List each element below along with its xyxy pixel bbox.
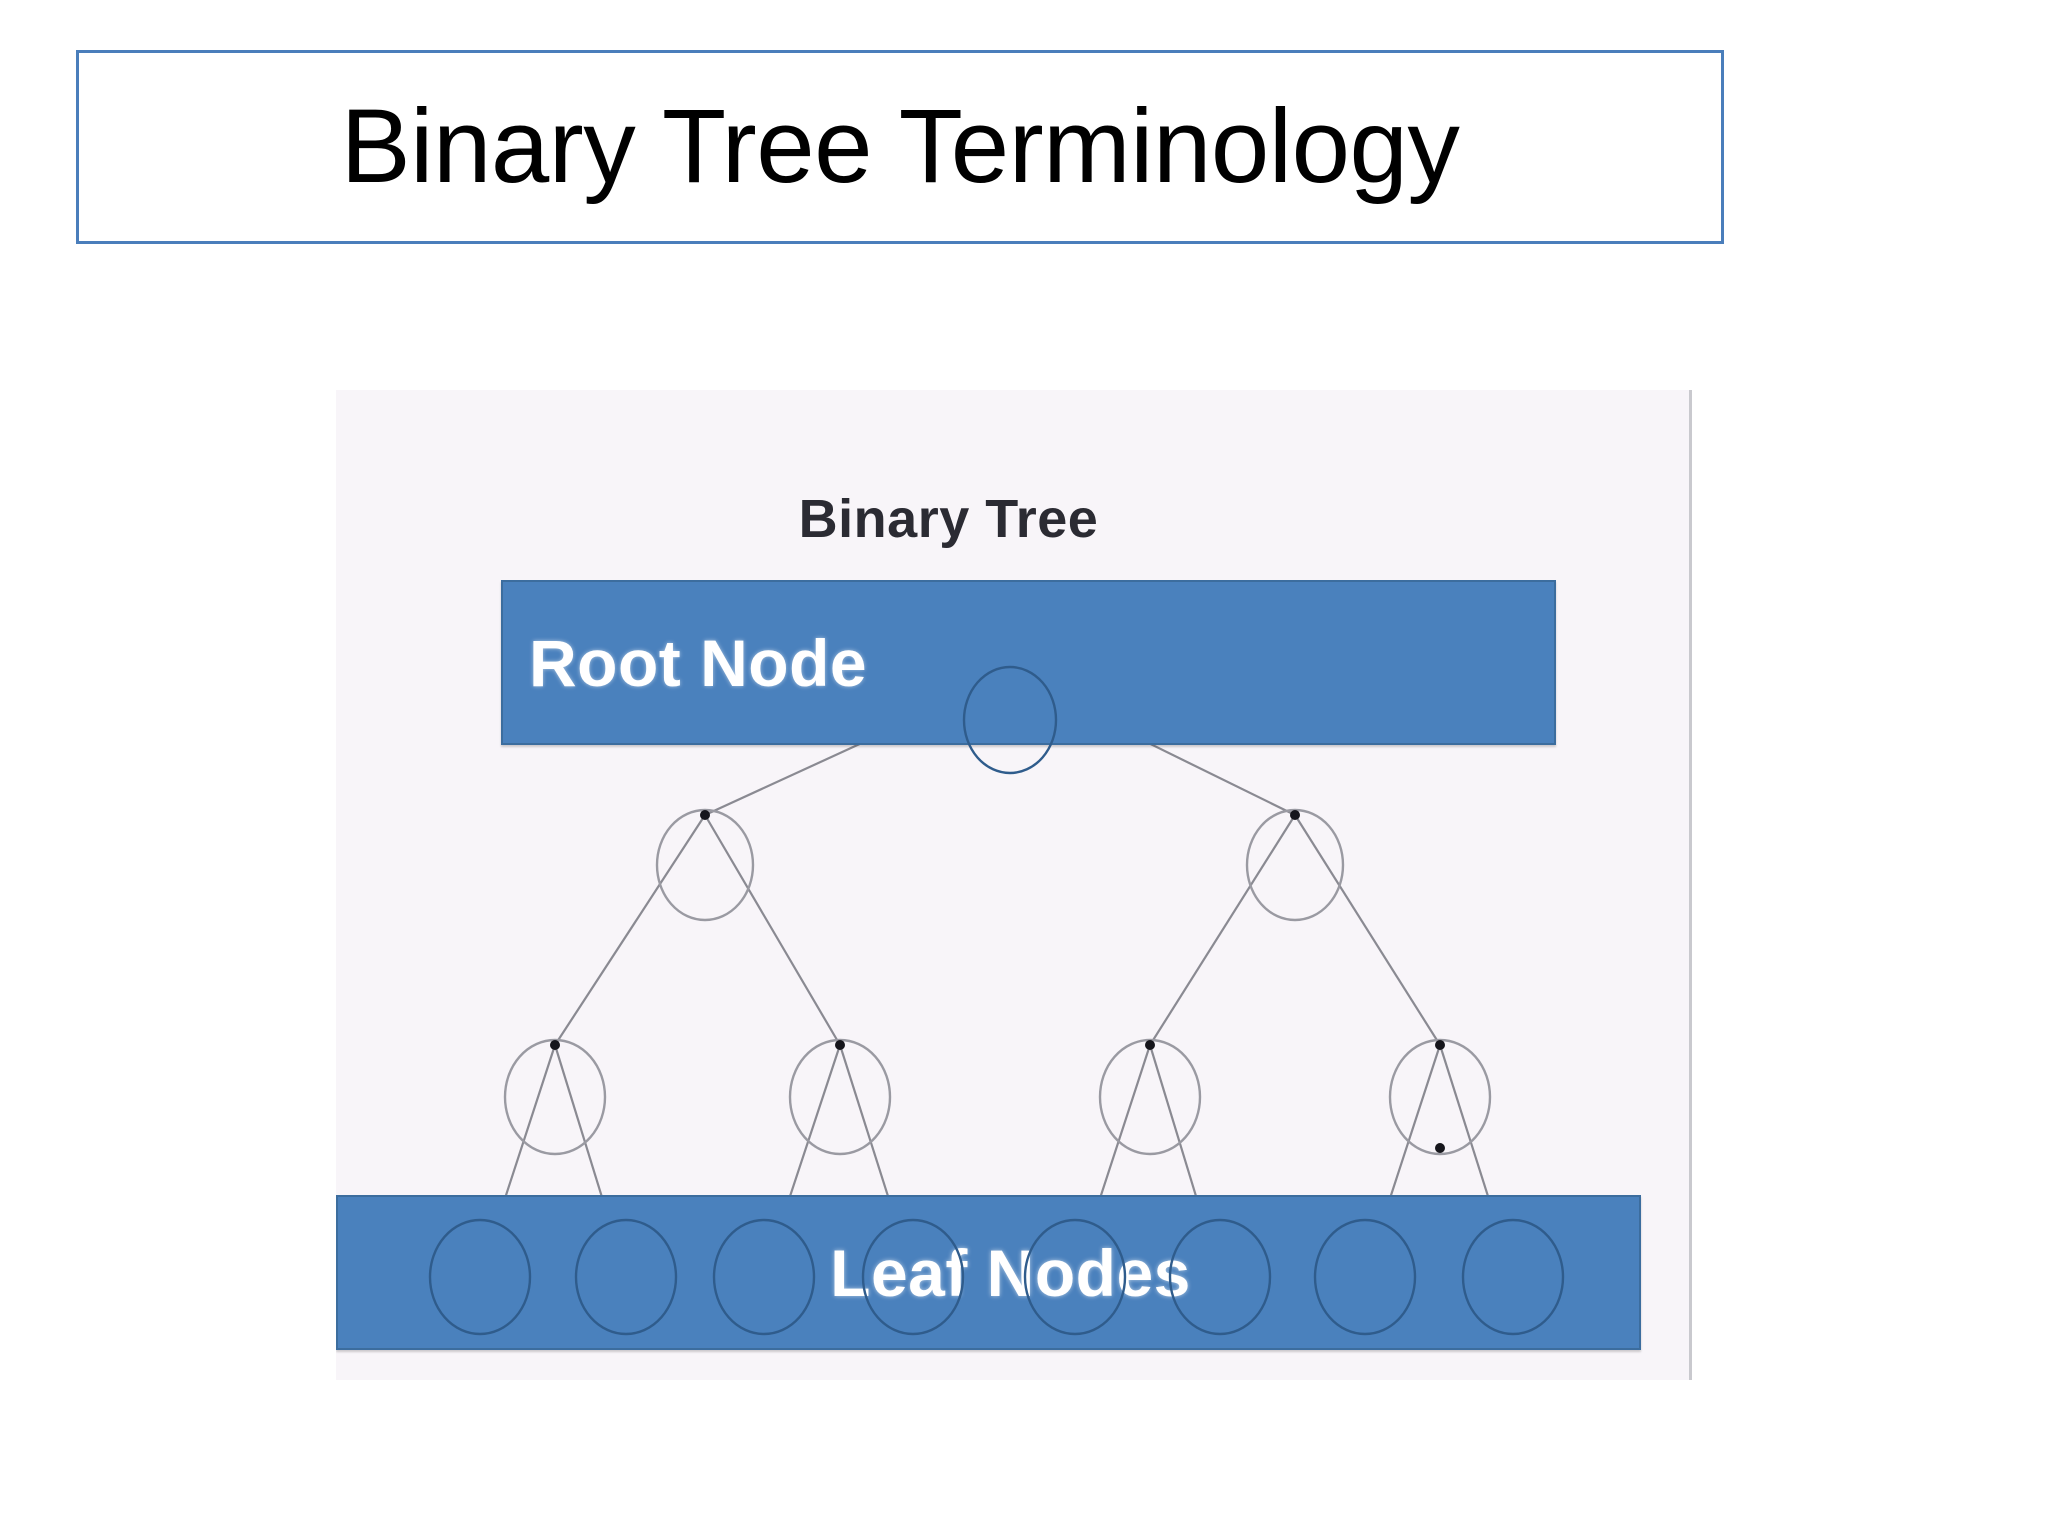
binary-tree-diagram: Binary Tree	[336, 390, 1689, 1380]
root-node-banner[interactable]: Root Node	[501, 580, 1556, 745]
root-node-label: Root Node	[503, 625, 867, 701]
leaf-nodes-label: Leaf Nodes	[830, 1235, 1191, 1311]
slide-title-placeholder[interactable]: Binary Tree Terminology	[76, 50, 1724, 244]
slide-canvas: Binary Tree Terminology Binary Tree	[0, 0, 2048, 1536]
binary-tree-image[interactable]: Binary Tree	[336, 390, 1692, 1380]
leaf-nodes-banner[interactable]: Leaf Nodes	[336, 1195, 1641, 1350]
page-title: Binary Tree Terminology	[341, 90, 1460, 203]
